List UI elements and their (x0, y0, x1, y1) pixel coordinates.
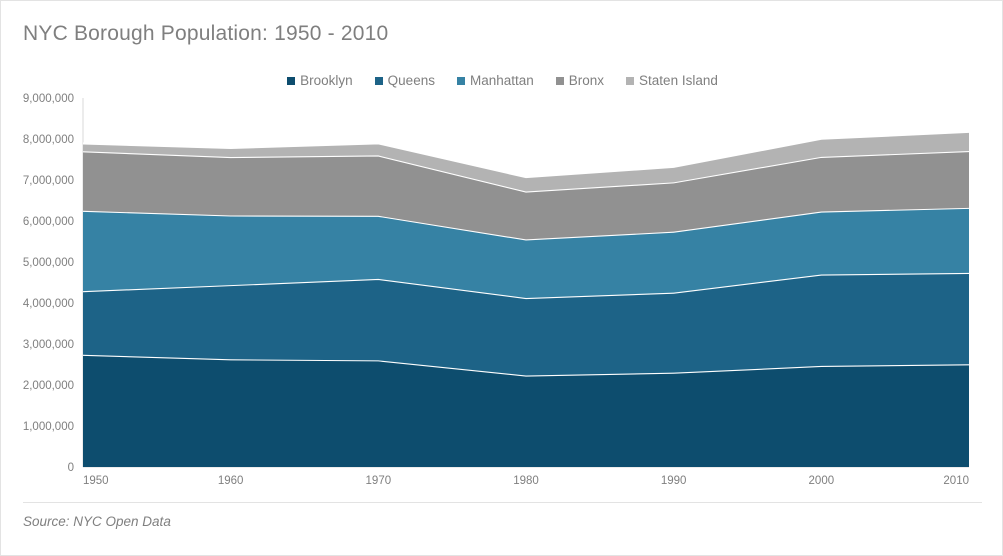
x-axis-tick-label: 1970 (366, 475, 392, 487)
x-axis-tick-label: 1990 (661, 475, 687, 487)
source-note: Source: NYC Open Data (23, 514, 171, 529)
x-axis-tick-label: 2000 (809, 475, 835, 487)
y-axis-tick-label: 6,000,000 (23, 216, 74, 228)
y-axis-tick-label: 5,000,000 (23, 257, 74, 269)
y-axis-tick-label: 1,000,000 (23, 421, 74, 433)
y-axis-tick-label: 8,000,000 (23, 134, 74, 146)
chart-container: NYC Borough Population: 1950 - 2010 Broo… (0, 0, 1003, 556)
x-axis-tick-label: 2010 (943, 475, 969, 487)
y-axis-tick-label: 4,000,000 (23, 298, 74, 310)
x-axis-tick-label: 1980 (513, 475, 539, 487)
source-divider (23, 502, 982, 503)
y-axis-tick-label: 0 (68, 462, 74, 474)
area-chart-svg: 01,000,0002,000,0003,000,0004,000,0005,0… (1, 1, 1003, 556)
x-axis-tick-label: 1960 (218, 475, 244, 487)
y-axis-tick-label: 2,000,000 (23, 380, 74, 392)
y-axis-tick-label: 3,000,000 (23, 339, 74, 351)
y-axis-tick-label: 9,000,000 (23, 93, 74, 105)
y-axis-tick-label: 7,000,000 (23, 175, 74, 187)
plot-area: 01,000,0002,000,0003,000,0004,000,0005,0… (1, 1, 1003, 556)
x-axis-tick-label: 1950 (83, 475, 109, 487)
